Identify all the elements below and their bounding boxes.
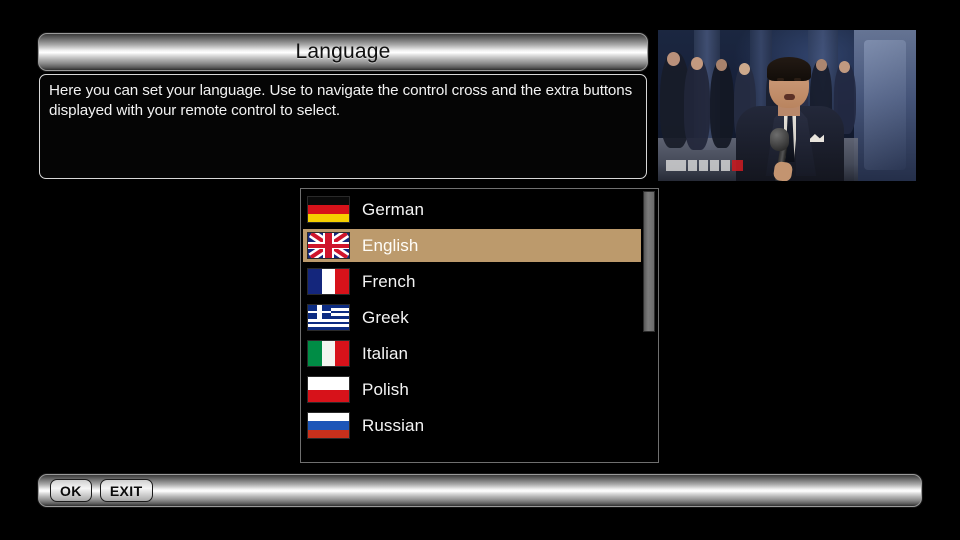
list-item[interactable]: French <box>303 265 641 298</box>
preview-crowd-figure <box>684 58 710 150</box>
list-item-label: Polish <box>362 380 409 400</box>
preview-wall-relief <box>864 40 906 170</box>
exit-button-label: EXIT <box>110 483 143 499</box>
ok-button[interactable]: OK <box>50 479 92 502</box>
list-item-label: Russian <box>362 416 424 436</box>
list-item[interactable]: Greek <box>303 301 641 334</box>
list-item-label: Greek <box>362 308 409 328</box>
list-item-label: Italian <box>362 344 408 364</box>
preview-reporter-hair <box>767 57 811 81</box>
flag-greece-icon <box>307 304 350 331</box>
list-item[interactable]: Italian <box>303 337 641 370</box>
list-item-selected[interactable]: English <box>303 229 641 262</box>
flag-united-kingdom-icon <box>307 232 350 259</box>
flag-germany-icon <box>307 196 350 223</box>
preview-crowd-head <box>667 52 680 66</box>
preview-reporter-mouth <box>784 94 795 100</box>
ok-button-label: OK <box>60 483 82 499</box>
help-description-text: Here you can set your language. Use to n… <box>49 81 637 121</box>
flag-poland-icon <box>307 376 350 403</box>
flag-russia-icon <box>307 412 350 439</box>
list-item[interactable]: Russian <box>303 409 641 442</box>
preview-crowd-head <box>816 59 827 71</box>
preview-crowd-head <box>739 63 750 75</box>
language-list-scrollbar[interactable] <box>642 191 656 462</box>
page-title-bar: Language <box>38 33 648 71</box>
list-item-label: English <box>362 236 418 256</box>
language-list-panel: German English French <box>300 188 659 463</box>
list-item-label: French <box>362 272 416 292</box>
page-title: Language <box>295 40 390 64</box>
exit-button[interactable]: EXIT <box>100 479 153 502</box>
preview-reporter-eye <box>777 78 784 81</box>
flag-italy-icon <box>307 340 350 367</box>
list-item[interactable]: German <box>303 193 641 226</box>
preview-crowd-head <box>839 61 850 73</box>
help-description-panel: Here you can set your language. Use to n… <box>39 74 647 179</box>
microphone-icon <box>770 128 789 151</box>
scrollbar-thumb[interactable] <box>643 191 655 332</box>
preview-reporter-hand <box>773 161 793 181</box>
broadcaster-watermark <box>666 159 750 172</box>
preview-crowd-head <box>691 57 703 70</box>
tv-settings-screen: Language Here you can set your language.… <box>0 0 960 540</box>
list-item[interactable]: Polish <box>303 373 641 406</box>
language-list: German English French <box>301 189 643 462</box>
live-tv-preview[interactable] <box>658 30 916 181</box>
preview-crowd-figure <box>710 60 734 148</box>
list-item-label: German <box>362 200 424 220</box>
preview-reporter-eye <box>794 78 801 81</box>
preview-crowd-head <box>716 59 727 71</box>
softkey-bar: OK EXIT <box>38 474 922 507</box>
flag-france-icon <box>307 268 350 295</box>
